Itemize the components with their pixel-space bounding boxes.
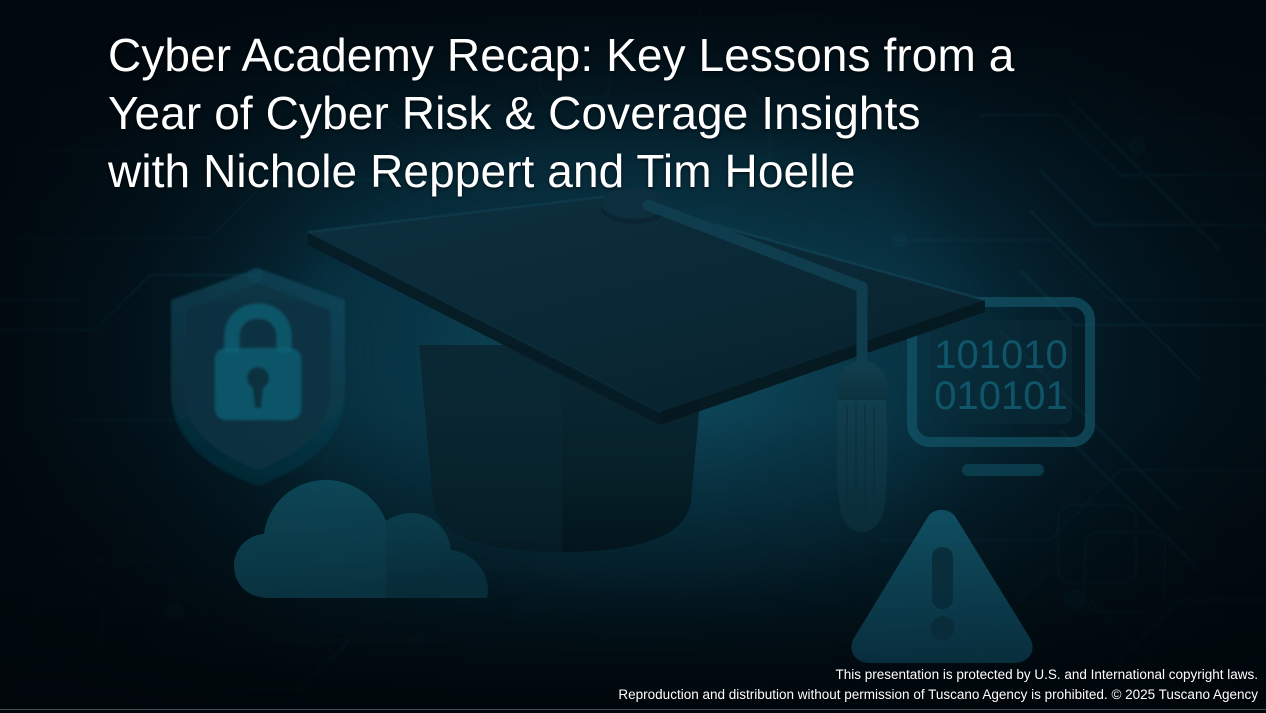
bottom-divider bbox=[0, 709, 1266, 710]
title-line-3: with Nichole Reppert and Tim Hoelle bbox=[108, 142, 1188, 200]
title-line-2: Year of Cyber Risk & Coverage Insights bbox=[108, 84, 1188, 142]
binary-line-1: 101010 bbox=[934, 333, 1067, 377]
title-line-1: Cyber Academy Recap: Key Lessons from a bbox=[108, 26, 1188, 84]
binary-line-2: 010101 bbox=[934, 374, 1067, 418]
footer-line-2: Reproduction and distribution without pe… bbox=[618, 685, 1258, 705]
footer-line-1: This presentation is protected by U.S. a… bbox=[618, 665, 1258, 685]
page-title: Cyber Academy Recap: Key Lessons from a … bbox=[108, 26, 1188, 200]
copyright-footer: This presentation is protected by U.S. a… bbox=[618, 665, 1258, 705]
presentation-slide: 101010 010101 bbox=[0, 0, 1266, 713]
binary-monitor-icon: 101010 010101 bbox=[912, 302, 1090, 476]
shield-lock-icon bbox=[171, 268, 345, 486]
warning-triangle-icon bbox=[851, 510, 1032, 663]
graduation-cap-icon bbox=[308, 187, 985, 552]
